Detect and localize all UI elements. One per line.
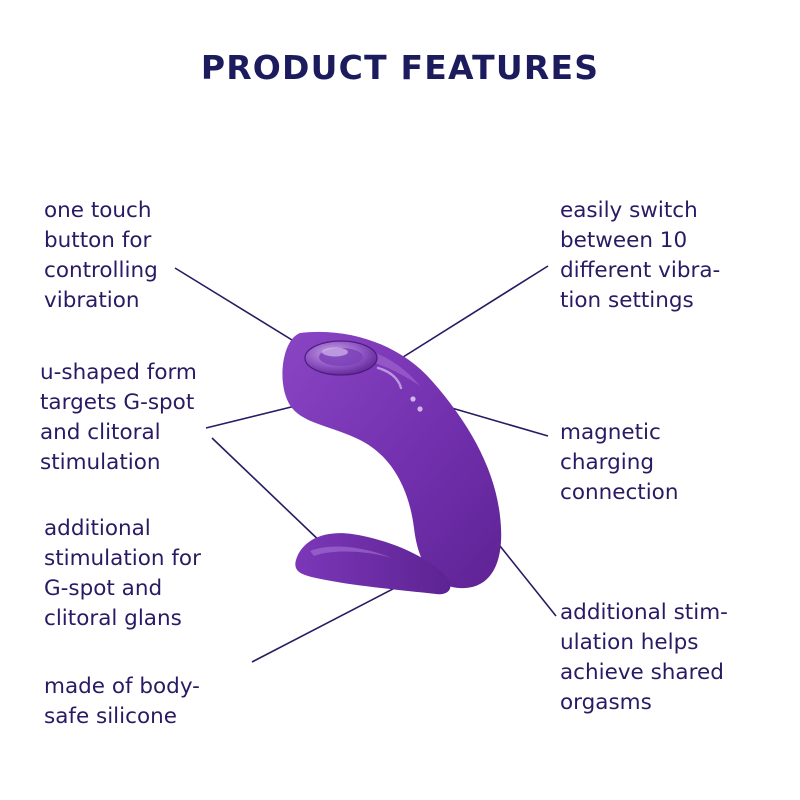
callout-one-touch: one touch button for controlling vibrati… (44, 196, 234, 316)
leader-line-shared-orgasms (492, 536, 556, 616)
charging-contact-dot-1 (410, 396, 415, 401)
product-features-diagram: PRODUCT FEATURES (0, 0, 800, 800)
leader-line-magnetic (438, 404, 548, 436)
callout-body-safe-silicone: made of body- safe silicone (44, 672, 254, 732)
leader-line-easily-switch (392, 266, 548, 364)
button-rim-highlight (378, 368, 401, 388)
page-title: PRODUCT FEATURES (0, 48, 800, 87)
callout-easily-switch: easily switch between 10 different vibra… (560, 196, 775, 316)
product-main-body (282, 332, 501, 588)
product-lower-arm (295, 533, 450, 594)
callout-magnetic-charging: magnetic charging connection (560, 418, 760, 508)
callout-additional-stimulation: additional stimulation for G-spot and cl… (44, 514, 254, 634)
product-body-highlight (318, 344, 420, 386)
control-button-glare (322, 348, 348, 357)
control-button-inner (319, 348, 363, 366)
leader-line-body-safe (252, 578, 414, 662)
product-lower-highlight (310, 547, 392, 558)
callout-shared-orgasms: additional stim- ulation helps achieve s… (560, 598, 775, 718)
control-button (305, 341, 377, 375)
charging-contact-dot-2 (417, 406, 422, 411)
callout-u-shaped: u-shaped form targets G-spot and clitora… (40, 358, 250, 478)
